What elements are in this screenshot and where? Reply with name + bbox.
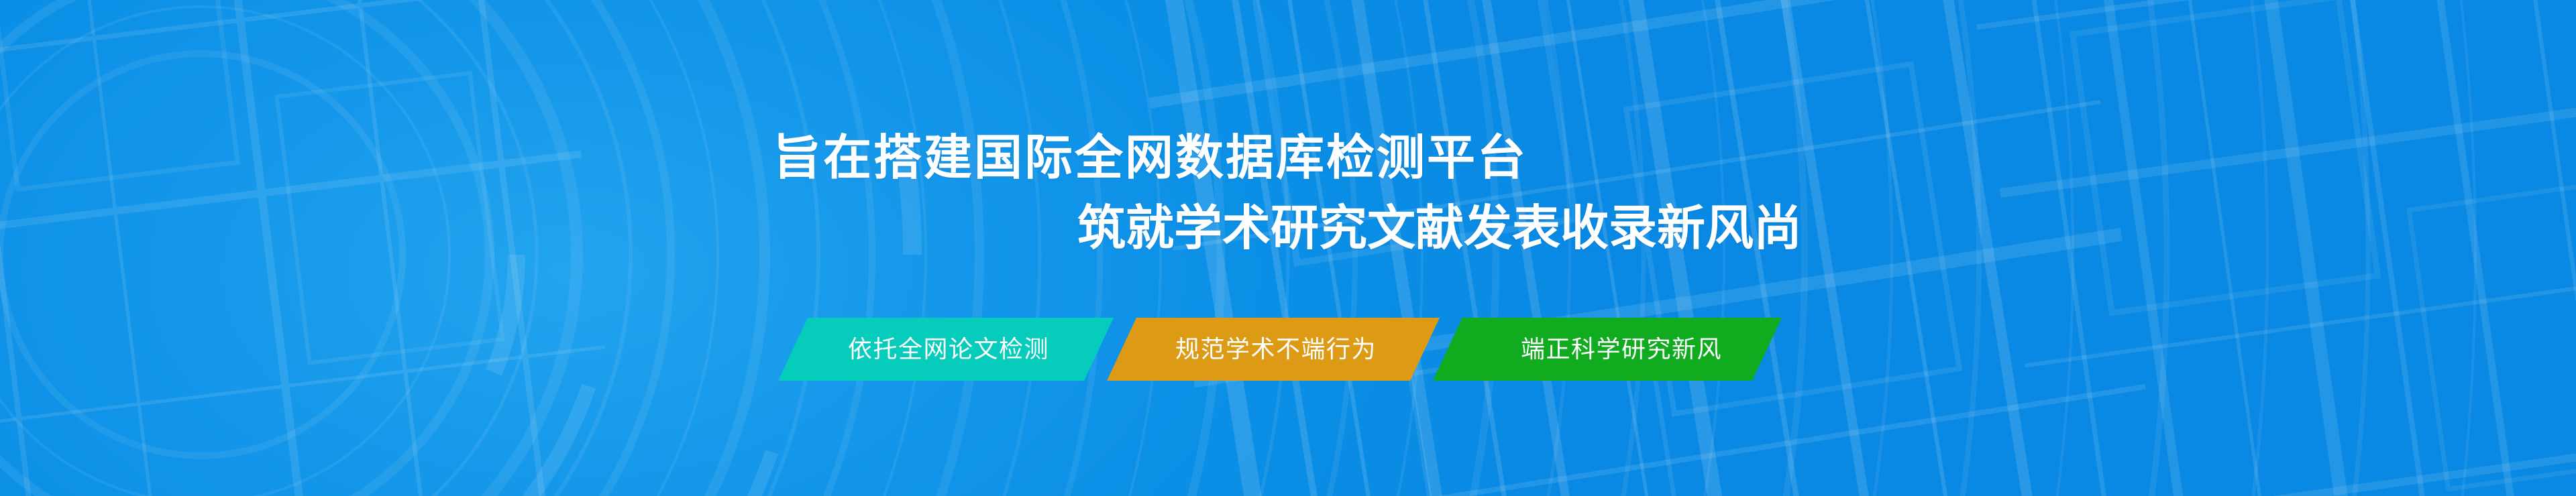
banner-background	[0, 0, 2576, 496]
promo-banner: 旨在搭建国际全网数据库检测平台 筑就学术研究文献发表收录新风尚 依托全网论文检测…	[0, 0, 2576, 496]
feature-tag-strip: 依托全网论文检测 规范学术不端行为 端正科学研究新风	[778, 318, 1805, 381]
feature-tag-label: 规范学术不端行为	[1175, 337, 1377, 361]
feature-tag-paper-detection[interactable]: 依托全网论文检测	[778, 318, 1114, 381]
feature-tag-label: 端正科学研究新风	[1521, 337, 1722, 361]
feature-tag-research-integrity[interactable]: 端正科学研究新风	[1433, 318, 1805, 381]
feature-tag-misconduct-regulation[interactable]: 规范学术不端行为	[1107, 318, 1440, 381]
feature-tag-label: 依托全网论文检测	[848, 337, 1049, 361]
